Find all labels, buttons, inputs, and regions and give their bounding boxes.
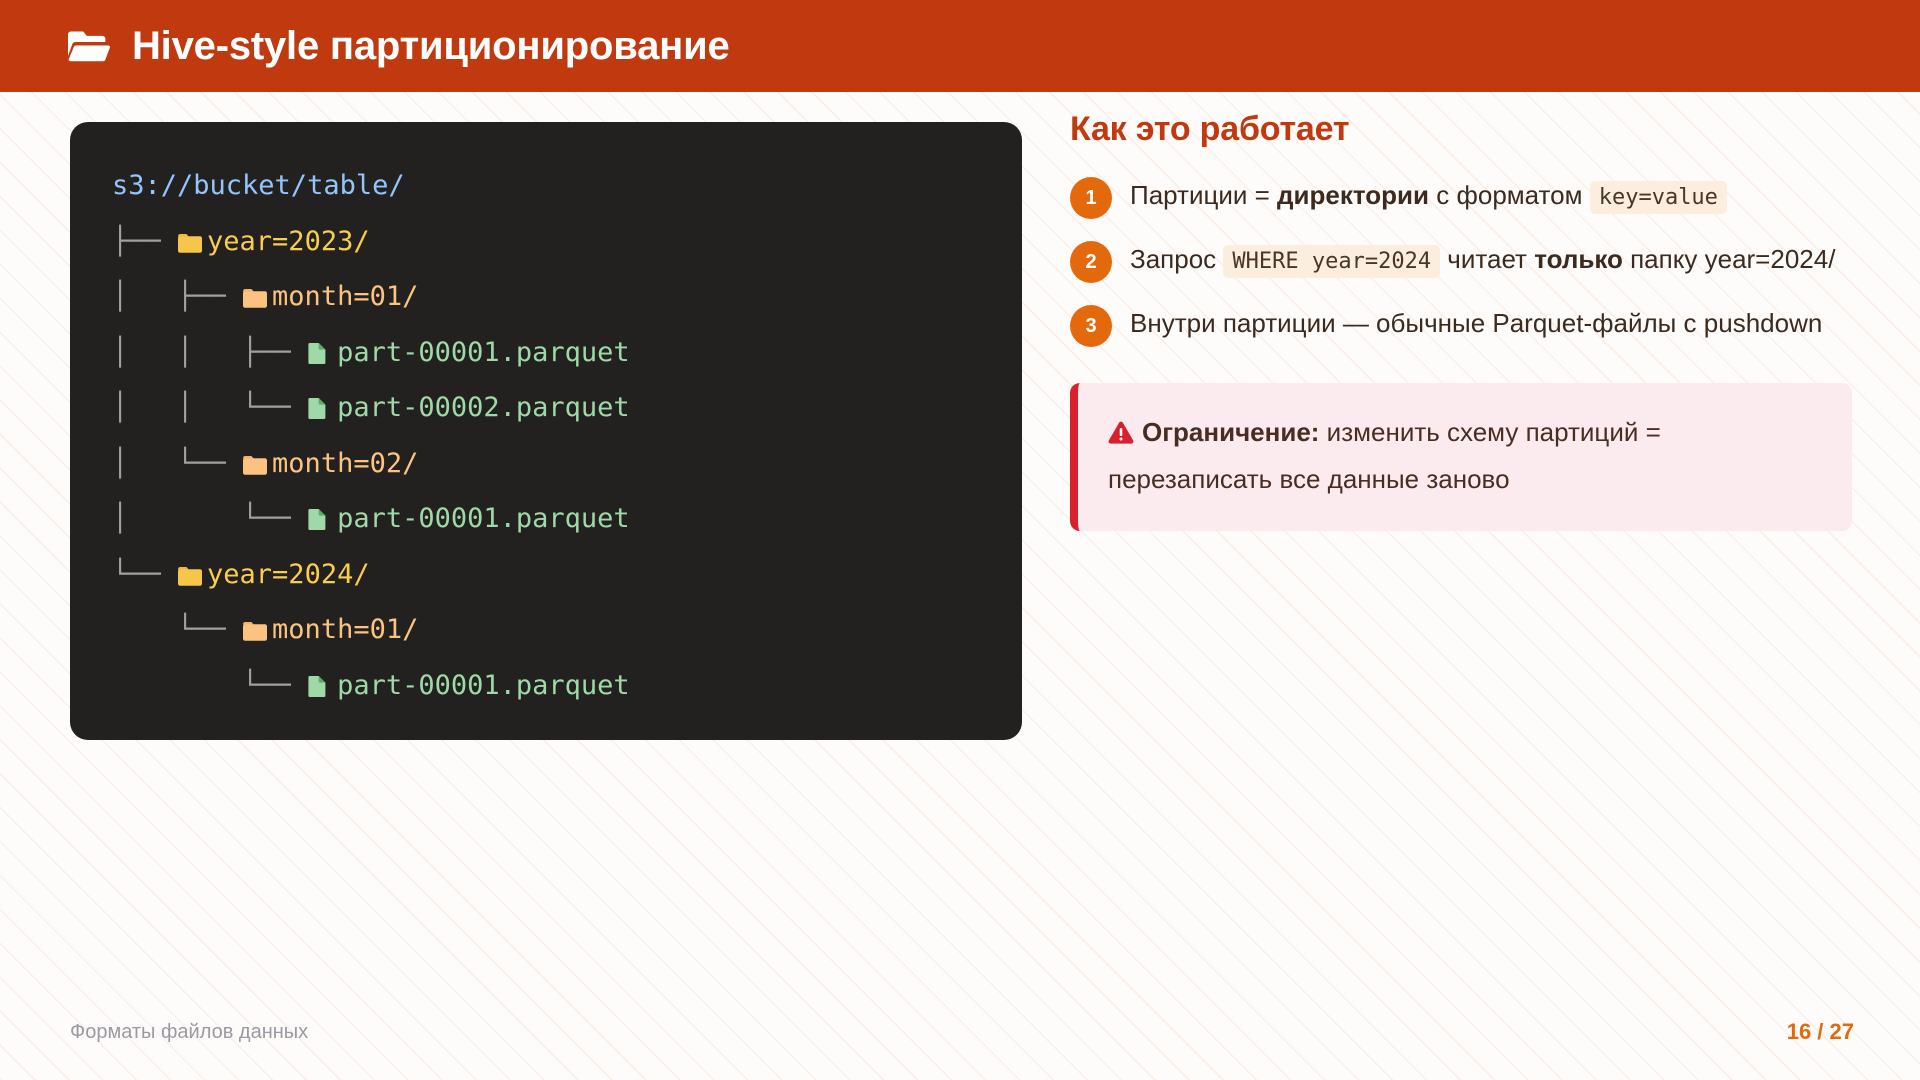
tree-guide-glyphs: └──	[112, 559, 177, 590]
code-line-text: month=01/	[272, 614, 418, 645]
code-line: │ │ ├── part-00001.parquet	[112, 325, 1022, 381]
step-number-badge: 2	[1070, 241, 1112, 283]
limitation-callout: Ограничение: изменить схему партиций = п…	[1070, 383, 1852, 531]
inline-code-chip: key=value	[1590, 181, 1727, 214]
folder-orange-icon	[242, 288, 272, 309]
tree-guide-glyphs: │ └──	[112, 503, 307, 534]
directory-tree-code-block: s3://bucket/table/├── year=2023/│ ├── mo…	[70, 122, 1022, 740]
code-line: └── month=01/	[112, 602, 1022, 658]
code-line: │ ├── month=01/	[112, 269, 1022, 325]
code-line: └── part-00001.parquet	[112, 658, 1022, 714]
code-line: └── year=2024/	[112, 547, 1022, 603]
slide-header: Hive-style партиционирование	[0, 0, 1920, 92]
file-green-icon	[307, 342, 337, 365]
limitation-label: Ограничение:	[1142, 417, 1319, 447]
code-line-text: month=01/	[272, 281, 418, 312]
explanation-panel: Как это работает 1Партиции = директории …	[1070, 110, 1870, 531]
code-line-text: part-00001.parquet	[337, 670, 630, 701]
step-text-fragment: папку year=2024/	[1623, 244, 1836, 274]
tree-guide-glyphs: ├──	[112, 226, 177, 257]
footer-page-indicator: 16 / 27	[1787, 1019, 1854, 1045]
step-number-badge: 1	[1070, 177, 1112, 219]
folder-yellow-icon	[177, 566, 207, 587]
tree-guide-glyphs: │ ├──	[112, 281, 242, 312]
step-text-fragment: с форматом	[1429, 180, 1590, 210]
code-line-text: year=2023/	[207, 226, 370, 257]
code-lines: s3://bucket/table/├── year=2023/│ ├── mo…	[112, 158, 1022, 713]
file-green-icon	[307, 397, 337, 420]
step-item: 1Партиции = директории с форматом key=va…	[1070, 175, 1870, 219]
inline-code-chip: WHERE year=2024	[1223, 245, 1440, 278]
code-line: s3://bucket/table/	[112, 158, 1022, 214]
code-line: ├── year=2023/	[112, 214, 1022, 270]
step-text-fragment: Запрос	[1130, 244, 1223, 274]
code-line-text: part-00001.parquet	[337, 337, 630, 368]
step-text-emphasis: только	[1534, 244, 1623, 274]
file-green-icon	[307, 508, 337, 531]
folder-orange-icon	[242, 455, 272, 476]
steps-list: 1Партиции = директории с форматом key=va…	[1070, 175, 1870, 347]
explanation-heading: Как это работает	[1070, 110, 1870, 149]
code-line-text: month=02/	[272, 448, 418, 479]
code-line: │ └── part-00001.parquet	[112, 491, 1022, 547]
step-text-fragment: Партиции =	[1130, 180, 1277, 210]
code-line-text: year=2024/	[207, 559, 370, 590]
step-text: Внутри партиции — обычные Parquet-файлы …	[1130, 303, 1822, 344]
warning-triangle-icon	[1108, 420, 1134, 444]
step-text-emphasis: директории	[1277, 180, 1429, 210]
page-title: Hive-style партиционирование	[132, 24, 730, 69]
tree-guide-glyphs: └──	[112, 614, 242, 645]
tree-guide-glyphs: └──	[112, 670, 307, 701]
file-green-icon	[307, 675, 337, 698]
step-item: 2Запрос WHERE year=2024 читает только па…	[1070, 239, 1870, 283]
tree-guide-glyphs: │ │ └──	[112, 392, 307, 423]
code-line-text: s3://bucket/table/	[112, 170, 405, 201]
step-text-fragment: Внутри партиции — обычные Parquet-файлы …	[1130, 308, 1822, 338]
folder-orange-icon	[242, 621, 272, 642]
code-line-text: part-00002.parquet	[337, 392, 630, 423]
step-text-fragment: читает	[1440, 244, 1534, 274]
step-number-badge: 3	[1070, 305, 1112, 347]
slide-footer: Форматы файлов данных 16 / 27	[0, 1006, 1920, 1080]
tree-guide-glyphs: │ │ ├──	[112, 337, 307, 368]
slide-body: s3://bucket/table/├── year=2023/│ ├── mo…	[0, 92, 1920, 1080]
footer-deck-name: Форматы файлов данных	[70, 1021, 308, 1044]
tree-guide-glyphs: │ └──	[112, 448, 242, 479]
limitation-callout-text: Ограничение: изменить схему партиций = п…	[1108, 409, 1822, 503]
step-text: Партиции = директории с форматом key=val…	[1130, 175, 1727, 218]
step-item: 3Внутри партиции — обычные Parquet-файлы…	[1070, 303, 1870, 347]
open-folder-icon	[66, 28, 110, 64]
step-text: Запрос WHERE year=2024 читает только пап…	[1130, 239, 1835, 282]
code-line: │ │ └── part-00002.parquet	[112, 380, 1022, 436]
code-line: │ └── month=02/	[112, 436, 1022, 492]
code-line-text: part-00001.parquet	[337, 503, 630, 534]
folder-yellow-icon	[177, 233, 207, 254]
